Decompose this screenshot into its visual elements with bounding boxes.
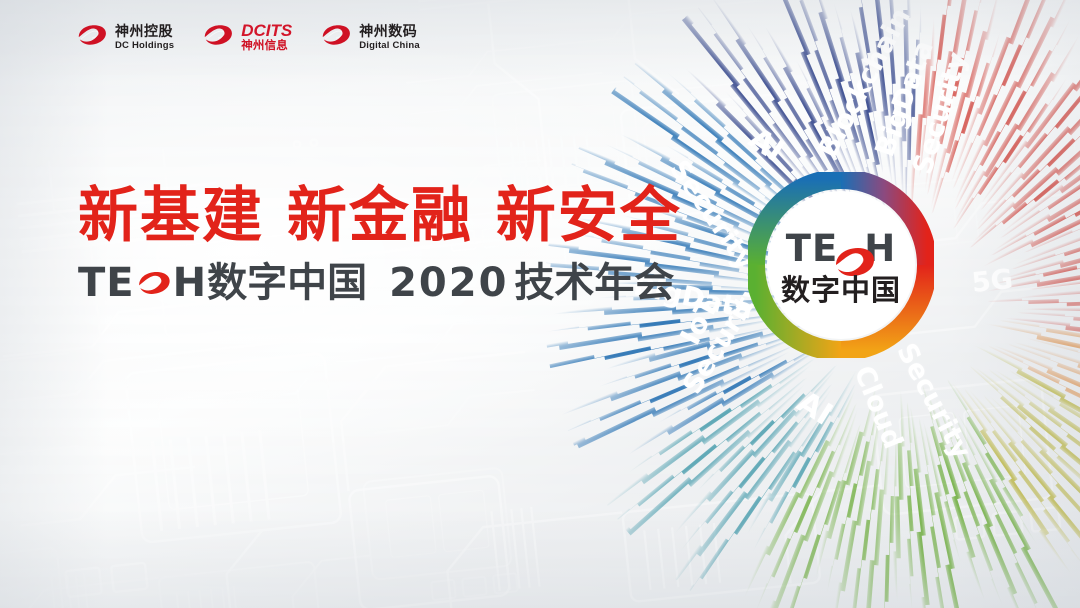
subtitle-tech-pre: TE [78,263,135,303]
swoosh-icon [320,22,352,53]
poster-canvas: Security AI Blockchain BigData Security … [0,0,1080,608]
partner-logo-bar: 神州控股 DC Holdings DCITS 神州信息 [76,22,420,53]
emblem-brand-cn: 数字中国 [781,273,901,307]
logo-dcits-cn: 神州信息 [241,41,292,53]
logo-digital-china-en: Digital China [359,41,420,51]
page-title: 新基建 新金融 新安全 [78,186,682,246]
subtitle-event: 技术年会 [514,263,674,303]
event-subtitle: TE H 数字中国 2020 技术年会 [78,263,674,303]
logo-digital-china-cn: 神州数码 [359,24,420,38]
subtitle-tech-post: H [173,263,207,303]
swoosh-icon [136,265,172,305]
swoosh-icon [202,22,234,53]
logo-dc-holdings-en: DC Holdings [115,41,174,51]
tech-digital-china-emblem: TEH 数字中国 [748,172,934,358]
swoosh-icon [76,22,108,53]
logo-dc-holdings-cn: 神州控股 [115,24,174,38]
logo-dcits-wordmark: DCITS [241,22,292,39]
subtitle-year: 2020 [389,263,508,303]
subtitle-brand-cn: 数字中国 [207,263,367,303]
logo-dcits[interactable]: DCITS 神州信息 [202,22,292,53]
logo-digital-china[interactable]: 神州数码 Digital China [320,22,420,53]
logo-dc-holdings[interactable]: 神州控股 DC Holdings [76,22,174,53]
